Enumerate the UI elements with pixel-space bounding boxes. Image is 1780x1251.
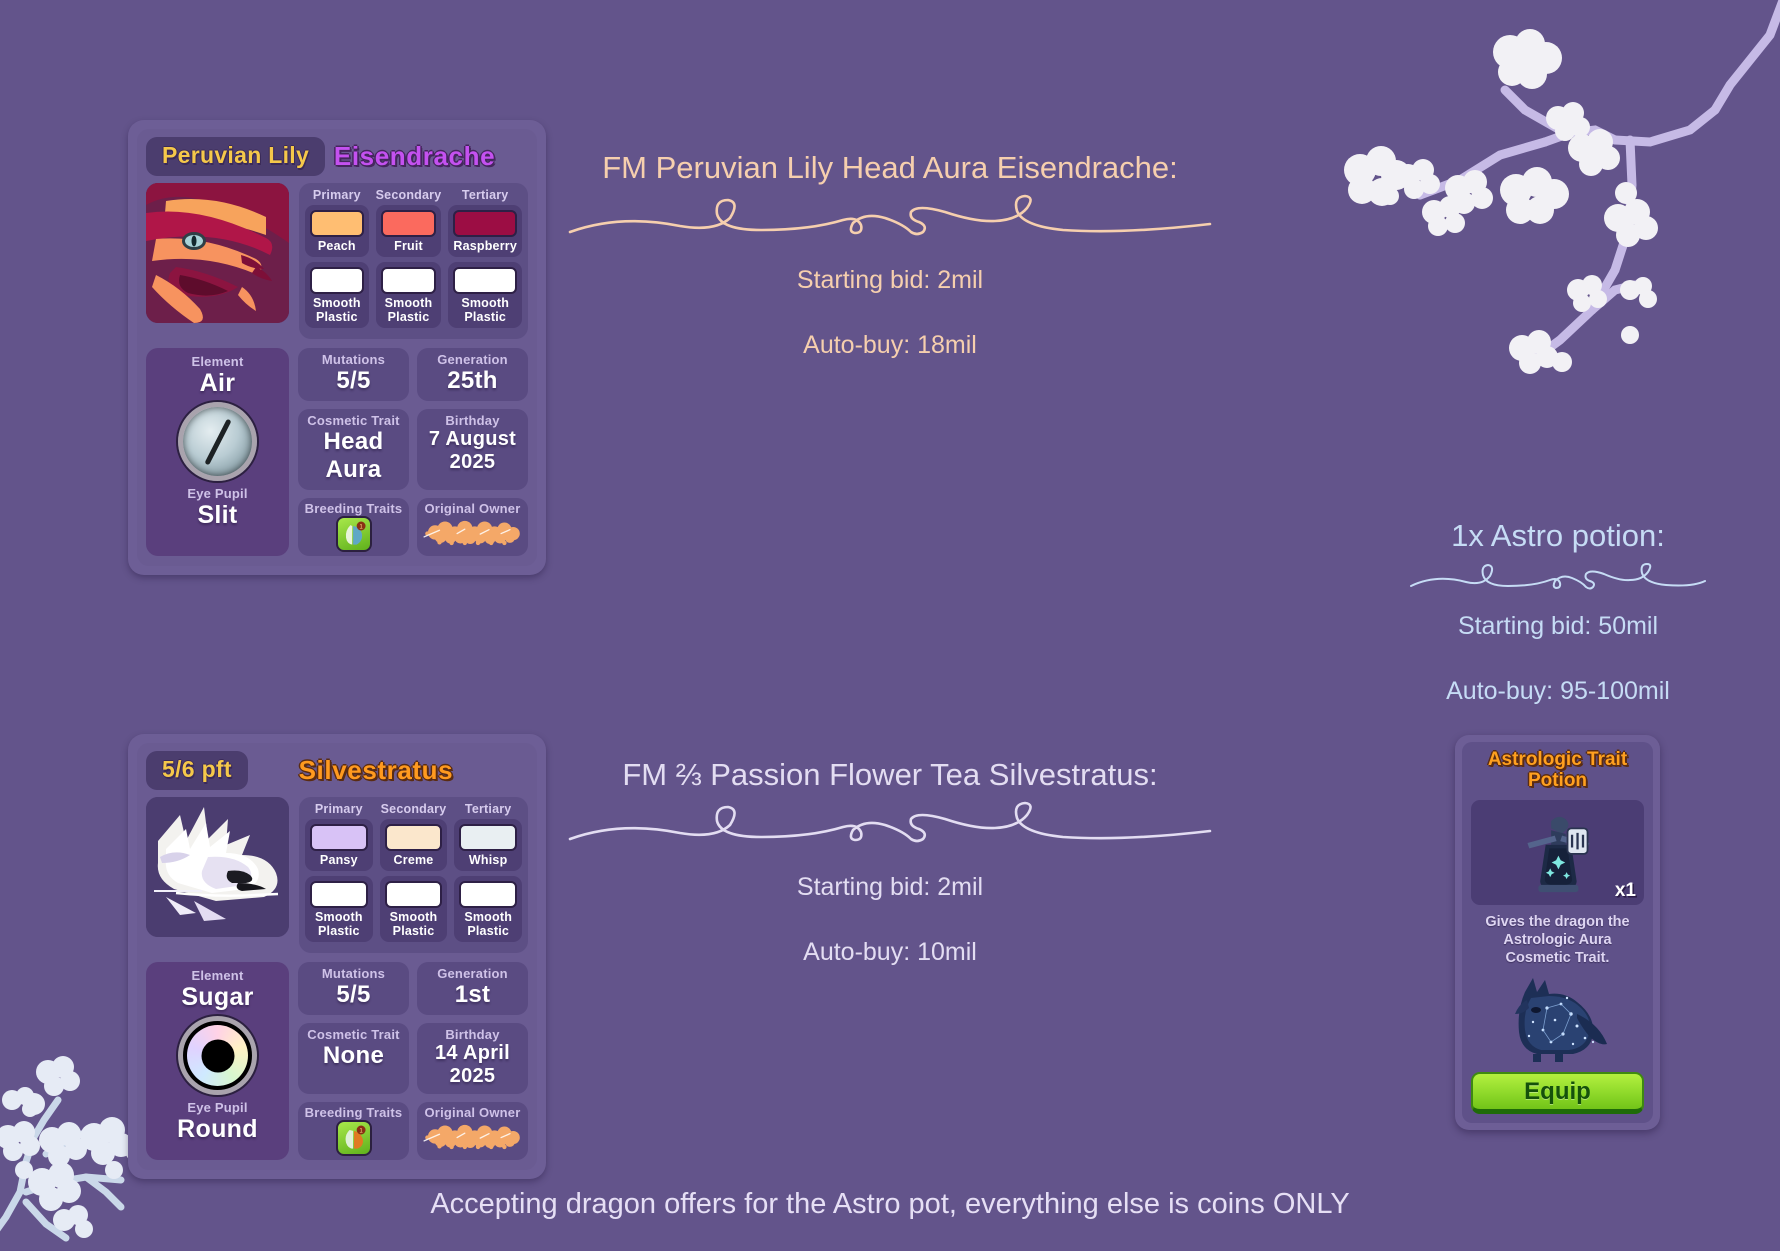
- dragon-stat-card-eisendrache[interactable]: Peruvian Lily Eisendrache: [128, 120, 546, 575]
- material-swatch-box[interactable]: Smooth Plastic: [448, 262, 522, 328]
- material-swatch-box[interactable]: Smooth Plastic: [305, 262, 369, 328]
- element-value: Sugar: [150, 983, 285, 1012]
- color-name: Creme: [385, 853, 443, 867]
- color-swatch-box[interactable]: Peach: [305, 205, 369, 257]
- material-swatch: [310, 267, 364, 294]
- stat-tile-birthday: Birthday 14 April 2025: [417, 1023, 528, 1094]
- color-swatch-box[interactable]: Raspberry: [448, 205, 522, 257]
- color-slot-label: Secondary: [380, 802, 448, 816]
- auto-buy-text: Auto-buy: 10mil: [565, 938, 1215, 967]
- color-slot-label: Secondary: [376, 188, 442, 202]
- card-inner: Peruvian Lily Eisendrache: [137, 129, 537, 566]
- element-label: Element: [150, 354, 285, 369]
- stat-tile-cosmetic-trait: Cosmetic Trait None: [298, 1023, 409, 1094]
- stat-label: Mutations: [304, 352, 403, 367]
- color-swatch: [310, 210, 364, 237]
- color-slot-tertiary: Tertiary Raspberry Smooth Plastic: [448, 188, 522, 333]
- dragon-name-badge: 5/6 pft: [146, 751, 248, 790]
- element-label: Element: [150, 968, 285, 983]
- material-swatch: [453, 267, 517, 294]
- color-slot-primary: Primary Pansy Smooth Plastic: [305, 802, 373, 947]
- stat-label: Breeding Traits: [304, 501, 403, 516]
- color-slots-eisendrache: Primary Peach Smooth Plastic Secondary F…: [299, 183, 528, 339]
- cherry-blossom-branch-top-right: [1330, 0, 1780, 410]
- color-slots-silvestratus: Primary Pansy Smooth Plastic Secondary C…: [299, 797, 528, 953]
- starting-bid-text: Starting bid: 50mil: [1408, 612, 1708, 641]
- color-swatch: [310, 824, 368, 851]
- color-slot-label: Tertiary: [454, 802, 522, 816]
- stat-row: Mutations 5/5 Generation 1st: [298, 962, 528, 1015]
- potion-description: Gives the dragon the Astrologic Aura Cos…: [1471, 913, 1644, 968]
- card-inner: 5/6 pft Silvestratus: [137, 743, 537, 1170]
- element-panel: Element Sugar Eye Pupil Round: [146, 962, 289, 1160]
- divider-swirl: [565, 799, 1215, 847]
- stat-value: None: [304, 1042, 403, 1070]
- stat-tile-breeding-traits[interactable]: Breeding Traits 1: [298, 498, 409, 556]
- auto-buy-text: Auto-buy: 18mil: [565, 331, 1215, 360]
- stat-row: Cosmetic Trait Head Aura Birthday 7 Augu…: [298, 409, 528, 490]
- potion-title: Astrologic Trait Potion: [1471, 750, 1644, 792]
- material-swatch-box[interactable]: Smooth Plastic: [376, 262, 442, 328]
- material-name: Smooth Plastic: [381, 296, 437, 324]
- eye-pupil-label: Eye Pupil: [150, 486, 285, 501]
- dragon-name-badge: Peruvian Lily: [146, 137, 325, 176]
- stat-value: 14 April 2025: [423, 1042, 522, 1088]
- material-swatch: [310, 881, 368, 908]
- card-middle-row: Primary Pansy Smooth Plastic Secondary C…: [146, 797, 528, 953]
- card-bottom-row: Element Air Eye Pupil Slit Mutations 5/5…: [146, 348, 528, 556]
- censored-username-blob-icon: [423, 1120, 522, 1154]
- stat-label: Generation: [423, 352, 522, 367]
- breeding-trait-icon-row: 1: [304, 1120, 403, 1156]
- listing-title: 1x Astro potion:: [1408, 518, 1708, 554]
- material-swatch: [459, 881, 517, 908]
- eye-pupil-label: Eye Pupil: [150, 1100, 285, 1115]
- stat-row: Breeding Traits 1: [298, 1102, 528, 1160]
- stat-row: Breeding Traits 1: [298, 498, 528, 556]
- stats-grid: Mutations 5/5 Generation 1st Cosmetic Tr…: [298, 962, 528, 1160]
- color-name: Fruit: [381, 239, 437, 253]
- auto-buy-text: Auto-buy: 95-100mil: [1408, 677, 1708, 706]
- material-name: Smooth Plastic: [385, 910, 443, 938]
- color-name: Whisp: [459, 853, 517, 867]
- listing-title: FM ⅔ Passion Flower Tea Silvestratus:: [565, 757, 1215, 793]
- breeding-trait-gem-icon: 1: [336, 1120, 372, 1156]
- color-swatch-box[interactable]: Whisp: [454, 819, 522, 871]
- dragon-species-title: Eisendrache: [325, 141, 528, 172]
- material-swatch-box[interactable]: Smooth Plastic: [305, 876, 373, 942]
- dragon-stat-card-silvestratus[interactable]: 5/6 pft Silvestratus: [128, 734, 546, 1179]
- breeding-trait-icon-row: 1: [304, 516, 403, 552]
- stat-row: Cosmetic Trait None Birthday 14 April 20…: [298, 1023, 528, 1094]
- stat-label: Generation: [423, 966, 522, 981]
- color-name: Peach: [310, 239, 364, 253]
- material-swatch-box[interactable]: Smooth Plastic: [454, 876, 522, 942]
- divider-swirl: [1408, 560, 1708, 594]
- potion-image-box: x1: [1471, 800, 1644, 905]
- stat-value: 5/5: [304, 981, 403, 1009]
- listing-title: FM Peruvian Lily Head Aura Eisendrache:: [565, 150, 1215, 186]
- material-name: Smooth Plastic: [310, 910, 368, 938]
- stat-tile-generation: Generation 1st: [417, 962, 528, 1015]
- stat-tile-mutations: Mutations 5/5: [298, 962, 409, 1015]
- color-swatch-box[interactable]: Creme: [380, 819, 448, 871]
- astrologic-aura-dragon-preview: [1503, 974, 1613, 1064]
- svg-text:1: 1: [359, 524, 363, 531]
- eye-pupil-value: Slit: [150, 501, 285, 530]
- color-name: Raspberry: [453, 239, 517, 253]
- stat-tile-generation: Generation 25th: [417, 348, 528, 401]
- stat-tile-breeding-traits[interactable]: Breeding Traits 1: [298, 1102, 409, 1160]
- element-value: Air: [150, 369, 285, 398]
- divider-swirl: [565, 192, 1215, 240]
- air-orb-icon: [178, 402, 257, 481]
- color-slot-secondary: Secondary Creme Smooth Plastic: [380, 802, 448, 947]
- stat-tile-birthday: Birthday 7 August 2025: [417, 409, 528, 490]
- color-name: Pansy: [310, 853, 368, 867]
- listing-eisendrache: FM Peruvian Lily Head Aura Eisendrache: …: [565, 150, 1215, 360]
- card-header: 5/6 pft Silvestratus: [146, 751, 528, 789]
- svg-text:1: 1: [359, 1128, 363, 1135]
- stat-value: 5/5: [304, 367, 403, 395]
- stat-value: 7 August 2025: [423, 428, 522, 474]
- stat-value: 25th: [423, 367, 522, 395]
- stat-tile-original-owner: Original Owner: [417, 498, 528, 556]
- stats-grid: Mutations 5/5 Generation 25th Cosmetic T…: [298, 348, 528, 556]
- censored-username-blob-icon: [423, 516, 522, 550]
- material-name: Smooth Plastic: [310, 296, 364, 324]
- material-swatch: [381, 267, 437, 294]
- equip-button[interactable]: Equip: [1471, 1072, 1644, 1114]
- stat-tile-cosmetic-trait: Cosmetic Trait Head Aura: [298, 409, 409, 490]
- breeding-trait-gem-icon: 1: [336, 516, 372, 552]
- color-slot-tertiary: Tertiary Whisp Smooth Plastic: [454, 802, 522, 947]
- starting-bid-text: Starting bid: 2mil: [565, 873, 1215, 902]
- color-swatch: [453, 210, 517, 237]
- sugar-orb-icon: [178, 1016, 257, 1095]
- material-name: Smooth Plastic: [459, 910, 517, 938]
- stat-tile-original-owner: Original Owner: [417, 1102, 528, 1160]
- stat-value: Head Aura: [304, 428, 403, 484]
- astrologic-trait-potion-card[interactable]: Astrologic Trait Potion x1 Gives: [1455, 735, 1660, 1130]
- material-swatch: [385, 881, 443, 908]
- color-swatch: [385, 824, 443, 851]
- dragon-portrait-eisendrache: [146, 183, 289, 323]
- stat-label: Birthday: [423, 1027, 522, 1042]
- potion-count-badge: x1: [1615, 880, 1636, 902]
- material-name: Smooth Plastic: [453, 296, 517, 324]
- element-panel: Element Air Eye Pupil Slit: [146, 348, 289, 556]
- eye-pupil-value: Round: [150, 1115, 285, 1144]
- stat-row: Mutations 5/5 Generation 25th: [298, 348, 528, 401]
- stat-label: Breeding Traits: [304, 1105, 403, 1120]
- material-swatch-box[interactable]: Smooth Plastic: [380, 876, 448, 942]
- card-middle-row: Primary Peach Smooth Plastic Secondary F…: [146, 183, 528, 339]
- stat-label: Cosmetic Trait: [304, 413, 403, 428]
- dragon-portrait-silvestratus: [146, 797, 289, 937]
- color-slot-primary: Primary Peach Smooth Plastic: [305, 188, 369, 333]
- color-swatch-box[interactable]: Pansy: [305, 819, 373, 871]
- potion-card-inner: Astrologic Trait Potion x1 Gives: [1462, 742, 1653, 1123]
- card-bottom-row: Element Sugar Eye Pupil Round Mutations …: [146, 962, 528, 1160]
- listing-astro-potion: 1x Astro potion: Starting bid: 50mil Aut…: [1408, 518, 1708, 706]
- color-slot-label: Primary: [305, 802, 373, 816]
- starting-bid-text: Starting bid: 2mil: [565, 266, 1215, 295]
- listing-silvestratus: FM ⅔ Passion Flower Tea Silvestratus: St…: [565, 757, 1215, 967]
- color-swatch-box[interactable]: Fruit: [376, 205, 442, 257]
- color-swatch: [381, 210, 437, 237]
- color-swatch: [459, 824, 517, 851]
- footer-note: Accepting dragon offers for the Astro po…: [0, 1188, 1780, 1221]
- stat-tile-mutations: Mutations 5/5: [298, 348, 409, 401]
- stat-label: Birthday: [423, 413, 522, 428]
- stat-label: Cosmetic Trait: [304, 1027, 403, 1042]
- color-slot-label: Primary: [305, 188, 369, 202]
- color-slot-label: Tertiary: [448, 188, 522, 202]
- dragon-species-title: Silvestratus: [248, 755, 528, 786]
- stat-value: 1st: [423, 981, 522, 1009]
- card-header: Peruvian Lily Eisendrache: [146, 137, 528, 175]
- stat-label: Mutations: [304, 966, 403, 981]
- color-slot-secondary: Secondary Fruit Smooth Plastic: [376, 188, 442, 333]
